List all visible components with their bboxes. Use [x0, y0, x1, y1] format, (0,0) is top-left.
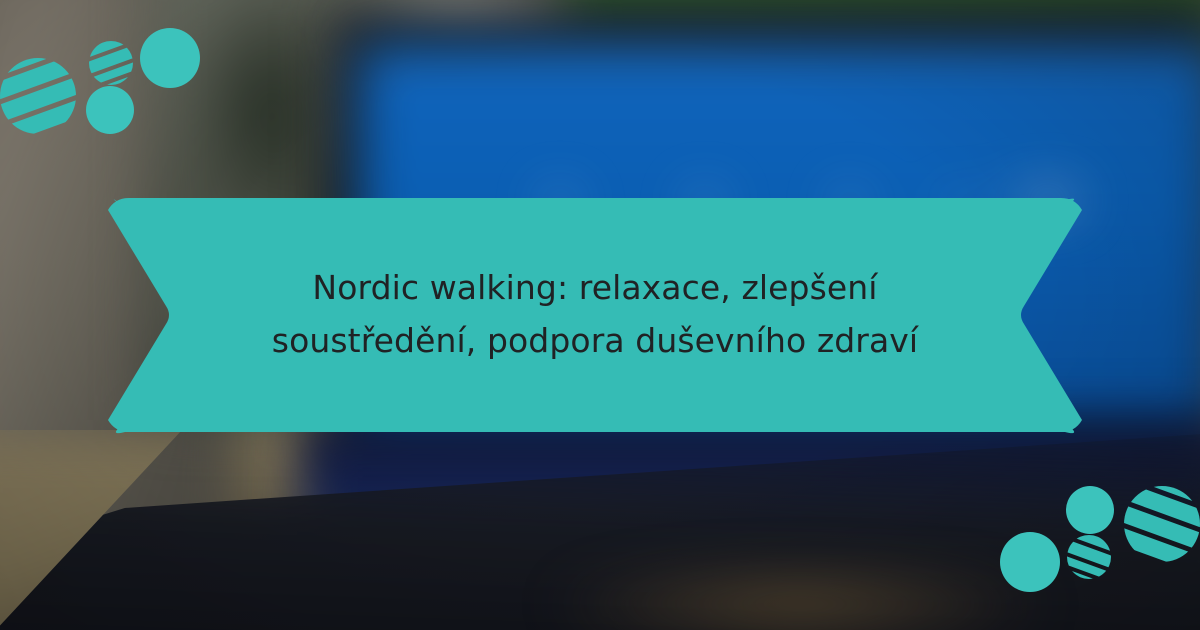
headline-line-2: soustředění, podpora duševního zdraví: [272, 318, 918, 365]
social-card: Nordic walking: relaxace, zlepšení soust…: [0, 0, 1200, 630]
banner-headline: Nordic walking: relaxace, zlepšení soust…: [170, 196, 1020, 434]
headline-line-1: Nordic walking: relaxace, zlepšení: [312, 265, 877, 312]
